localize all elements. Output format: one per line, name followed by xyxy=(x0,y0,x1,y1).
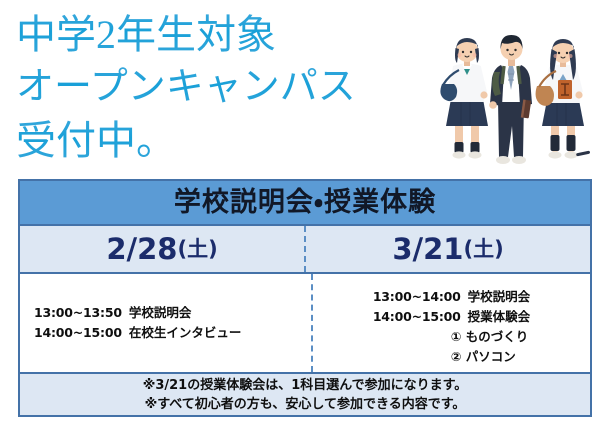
note-line-2: ※すべて初心者の方も、安心して参加できる内容です。 xyxy=(145,395,466,414)
date-1-number: 2/28 xyxy=(106,235,177,264)
schedule-cell-1: 13:00~13:50学校説明会 14:00~15:00在校生インタビュー xyxy=(20,274,313,372)
session-time: 14:00~15:00 xyxy=(373,309,461,324)
session-option-1: ① ものづくり xyxy=(373,327,530,347)
session-line: 14:00~15:00在校生インタビュー xyxy=(34,323,241,343)
headline-block: 中学2年生対象 オープンキャンパス 受付中。 xyxy=(16,8,436,167)
session-name: 学校説明会 xyxy=(468,289,531,304)
headline-line-2: オープンキャンパス xyxy=(16,61,436,114)
headline-line-3: 受付中。 xyxy=(16,114,436,167)
session-list-1: 13:00~13:50学校説明会 14:00~15:00在校生インタビュー xyxy=(34,303,241,343)
schedule-body-row: 13:00~13:50学校説明会 14:00~15:00在校生インタビュー 13… xyxy=(20,274,590,374)
table-header-title: 学校説明会・授業体験 xyxy=(174,189,436,216)
notes-row: ※3/21の授業体験会は、1科目選んで参加になります。 ※すべて初心者の方も、安… xyxy=(20,374,590,415)
date-row: 2/28 (土) 3/21 (土) xyxy=(20,226,590,274)
note-line-1: ※3/21の授業体験会は、1科目選んで参加になります。 xyxy=(143,376,468,395)
headline-line-1: 中学2年生対象 xyxy=(16,8,436,61)
session-list-2: 13:00~14:00学校説明会 14:00~15:00授業体験会 ① ものづく… xyxy=(373,287,530,367)
session-time: 13:00~13:50 xyxy=(34,305,122,320)
session-option-2: ② パソコン xyxy=(373,347,530,367)
male-student-center-icon xyxy=(489,35,532,164)
date-cell-2: 3/21 (土) xyxy=(306,226,590,272)
open-campus-poster: 中学2年生対象 オープンキャンパス 受付中。 xyxy=(0,0,610,422)
table-header-band: 学校説明会・授業体験 xyxy=(20,181,590,226)
session-name: 在校生インタビュー xyxy=(129,325,242,340)
session-time: 13:00~14:00 xyxy=(373,289,461,304)
date-cell-1: 2/28 (土) xyxy=(20,226,306,272)
schedule-table: 学校説明会・授業体験 2/28 (土) 3/21 (土) 13:00~13:50… xyxy=(18,179,592,417)
session-name: 学校説明会 xyxy=(129,305,192,320)
session-name: 授業体験会 xyxy=(468,309,531,324)
female-student-right-icon xyxy=(536,39,591,159)
female-student-left-icon xyxy=(440,38,488,159)
date-2-number: 3/21 xyxy=(392,235,463,264)
date-2-weekday: (土) xyxy=(463,239,503,260)
session-line: 13:00~14:00学校説明会 xyxy=(373,287,530,307)
schedule-cell-2: 13:00~14:00学校説明会 14:00~15:00授業体験会 ① ものづく… xyxy=(313,274,590,372)
session-line: 14:00~15:00授業体験会 xyxy=(373,307,530,327)
session-line: 13:00~13:50学校説明会 xyxy=(34,303,241,323)
three-students-illustration xyxy=(424,22,604,174)
session-time: 14:00~15:00 xyxy=(34,325,122,340)
date-1-weekday: (土) xyxy=(177,239,217,260)
